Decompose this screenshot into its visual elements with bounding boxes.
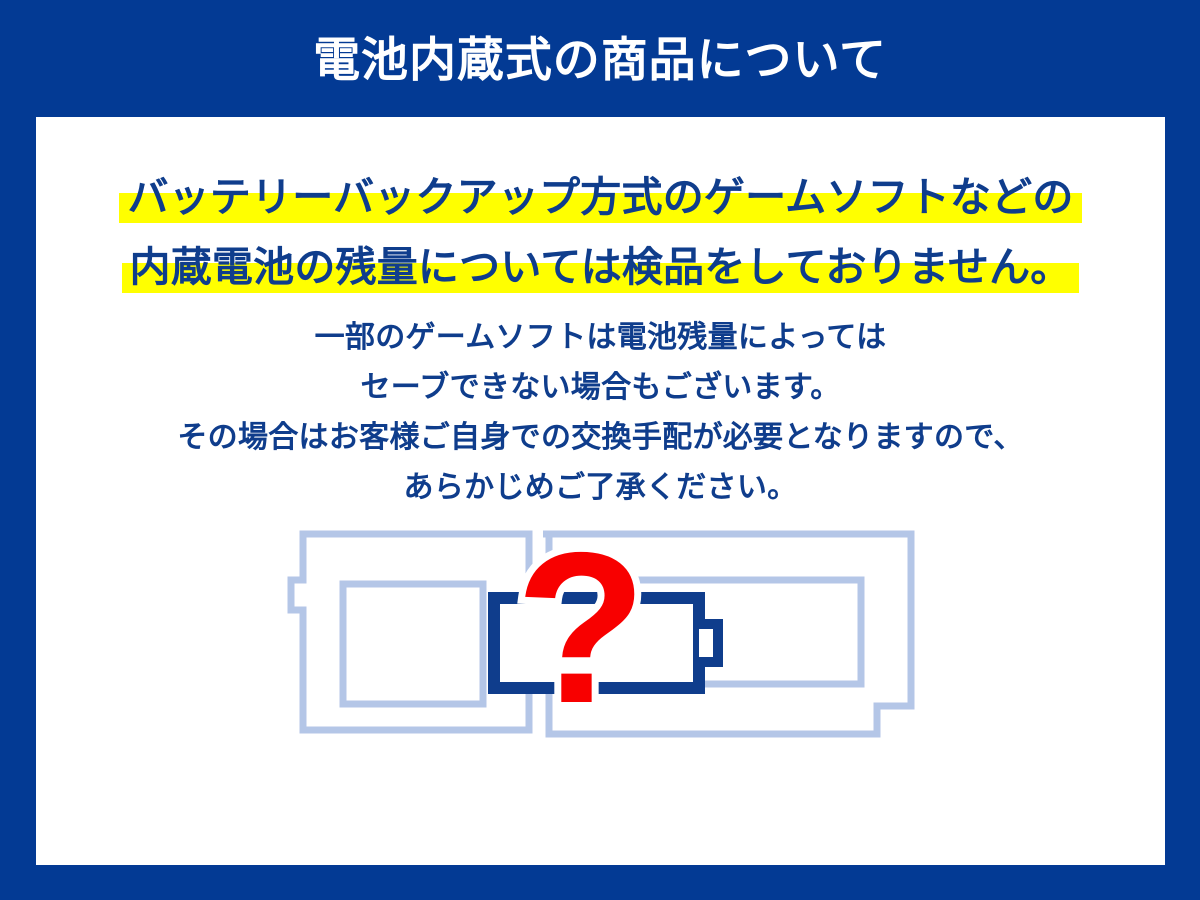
cartridge-left-label xyxy=(343,584,483,704)
header-band: 電池内蔵式の商品について xyxy=(0,0,1200,117)
page-title: 電池内蔵式の商品について xyxy=(313,36,887,83)
body-text-line-4: あらかじめご了承ください。 xyxy=(36,463,1165,513)
headline-line: 内蔵電池の残量については検品をしておりません。 xyxy=(36,235,1165,299)
headline-block: バッテリーバックアップ方式のゲームソフトなどの 内蔵電池の残量については検品をし… xyxy=(36,165,1165,299)
battery-terminal xyxy=(699,624,718,662)
headline-text-line-2: 内蔵電池の残量については検品をしておりません。 xyxy=(126,235,1076,299)
question-mark-glyph: ? xyxy=(515,512,646,748)
body-text-line-1: 一部のゲームソフトは電池残量によっては xyxy=(36,313,1165,363)
illustration-svg: ? xyxy=(281,512,921,762)
question-mark-icon: ? xyxy=(515,512,646,748)
content-card: バッテリーバックアップ方式のゲームソフトなどの 内蔵電池の残量については検品をし… xyxy=(36,117,1165,865)
body-text-line-2: セーブできない場合もございます。 xyxy=(36,363,1165,413)
body-copy-block: 一部のゲームソフトは電池残量によっては セーブできない場合もございます。 その場… xyxy=(36,313,1165,513)
body-text-line-3: その場合はお客様ご自身での交換手配が必要となりますので、 xyxy=(36,413,1165,463)
headline-line: バッテリーバックアップ方式のゲームソフトなどの xyxy=(36,165,1165,229)
poster-root: 電池内蔵式の商品について バッテリーバックアップ方式のゲームソフトなどの 内蔵電… xyxy=(0,0,1200,900)
headline-text-line-1: バッテリーバックアップ方式のゲームソフトなどの xyxy=(123,165,1077,229)
illustration-group: ? xyxy=(281,512,921,762)
